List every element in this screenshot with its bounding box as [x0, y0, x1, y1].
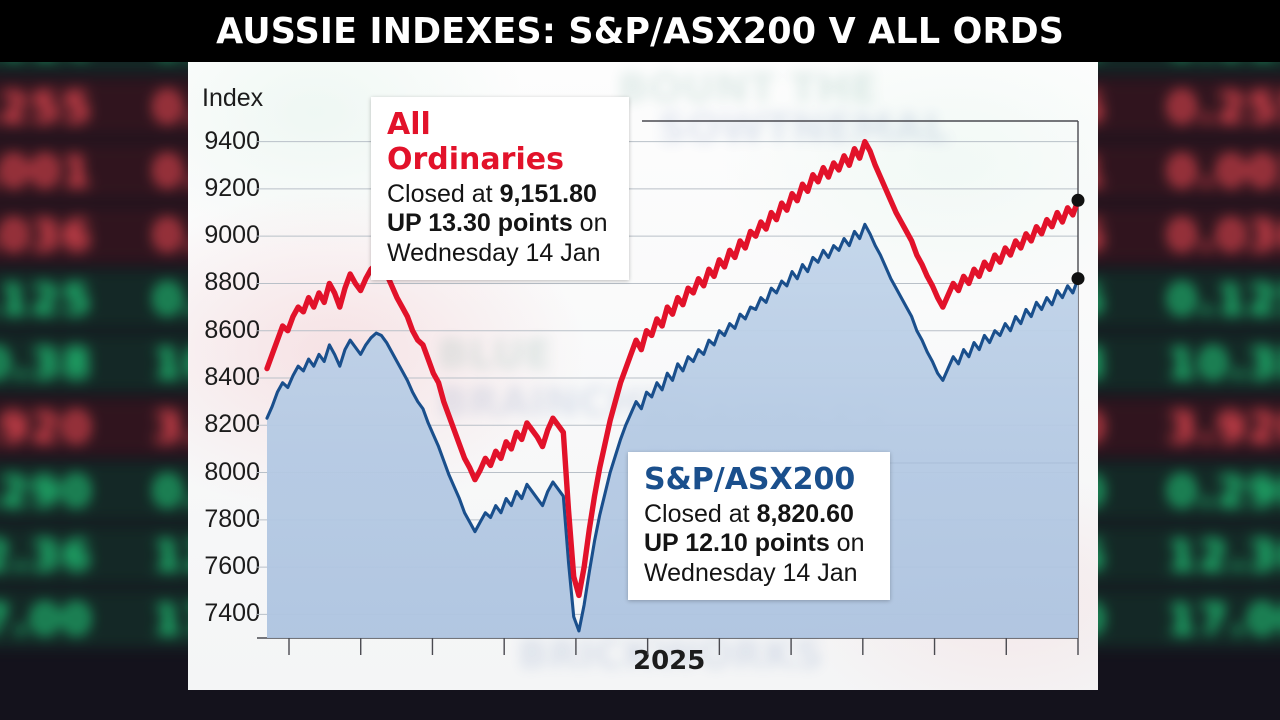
- y-axis-tick: 8800: [188, 268, 260, 297]
- ticker-value: 0.036: [1137, 211, 1280, 260]
- ticker-value: 0.255: [1137, 83, 1280, 132]
- y-axis-tick: 9000: [188, 221, 260, 250]
- screenshot-root: 0.0030.0030.0030.0030.0030.0030.0030.014…: [0, 0, 1280, 720]
- ticker-value: 0.001: [1137, 147, 1280, 196]
- ticker-value: 17.00: [1137, 595, 1280, 644]
- ticker-value: 0.290: [0, 467, 123, 516]
- page-title: AUSSIE INDEXES: S&P/ASX200 V ALL ORDS: [216, 11, 1064, 52]
- ticker-value: 17.00: [0, 595, 123, 644]
- callout-asx200-closed: Closed at 8,820.60: [644, 500, 874, 529]
- title-bar: AUSSIE INDEXES: S&P/ASX200 V ALL ORDS: [0, 0, 1280, 62]
- y-axis-tick: 8000: [188, 458, 260, 487]
- ghost-word: BOUNT THE: [618, 66, 878, 112]
- callout-asx200: S&P/ASX200 Closed at 8,820.60 UP 12.10 p…: [628, 452, 890, 600]
- y-axis-tick: 8600: [188, 316, 260, 345]
- ticker-value: 0.125: [0, 275, 123, 324]
- ticker-value: 12.36: [0, 531, 123, 580]
- callout-asx200-change: UP 12.10 points on: [644, 529, 874, 558]
- ticker-value: 0.001: [0, 147, 123, 196]
- y-axis-tick: 9200: [188, 174, 260, 203]
- change-suffix: on: [573, 209, 608, 237]
- y-axis-tick: 8400: [188, 363, 260, 392]
- callout-all-ordinaries-change: UP 13.30 points on: [387, 209, 613, 238]
- y-axis-tick: 7600: [188, 552, 260, 581]
- y-axis-tick: 7800: [188, 505, 260, 534]
- ticker-value: 12.36: [1137, 531, 1280, 580]
- x-axis-label: 2025: [633, 646, 705, 676]
- callout-all-ordinaries-closed: Closed at 9,151.80: [387, 180, 613, 209]
- closed-label: Closed at: [644, 500, 757, 528]
- callout-asx200-date: Wednesday 14 Jan: [644, 559, 874, 588]
- callout-asx200-title: S&P/ASX200: [644, 462, 874, 497]
- closed-label: Closed at: [387, 180, 500, 208]
- y-axis-label: Index: [202, 84, 263, 113]
- callout-all-ordinaries-title: All Ordinaries: [387, 107, 613, 177]
- ticker-value: 0.125: [1137, 275, 1280, 324]
- ticker-value: 0.036: [0, 211, 123, 260]
- ticker-value: 10.38: [1137, 339, 1280, 388]
- closed-value: 8,820.60: [757, 500, 854, 528]
- change-value: UP 12.10 points: [644, 529, 830, 557]
- ticker-value: 3.920: [0, 403, 123, 452]
- all-ordinaries-end-marker: [1072, 194, 1085, 207]
- change-value: UP 13.30 points: [387, 209, 573, 237]
- callout-all-ordinaries: All Ordinaries Closed at 9,151.80 UP 13.…: [371, 97, 629, 280]
- callout-all-ordinaries-date: Wednesday 14 Jan: [387, 239, 613, 268]
- y-axis-tick: 8200: [188, 410, 260, 439]
- ticker-value: 0.255: [0, 83, 123, 132]
- asx200-end-marker: [1072, 272, 1085, 285]
- change-suffix: on: [830, 529, 865, 557]
- ticker-value: 3.920: [1137, 403, 1280, 452]
- y-axis-tick: 7400: [188, 599, 260, 628]
- y-axis-tick: 9400: [188, 127, 260, 156]
- ticker-value: 0.290: [1137, 467, 1280, 516]
- closed-value: 9,151.80: [500, 180, 597, 208]
- ticker-value: 10.38: [0, 339, 123, 388]
